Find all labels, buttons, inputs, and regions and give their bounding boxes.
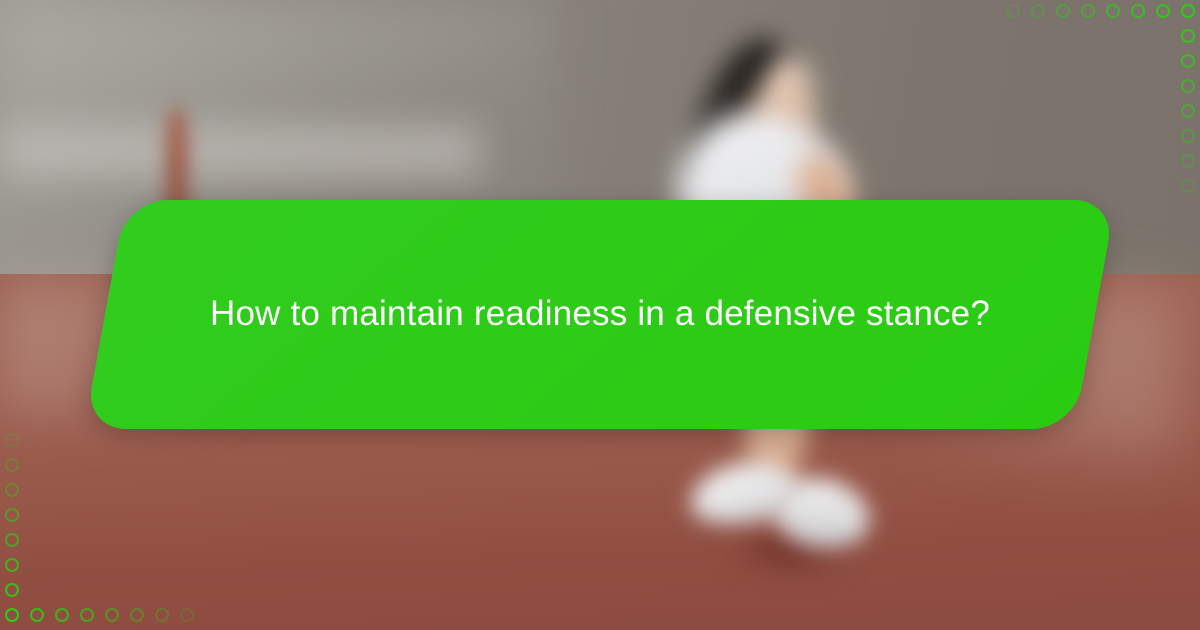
question-card-text-area: How to maintain readiness in a defensive… (105, 200, 1095, 429)
social-card-canvas: How to maintain readiness in a defensive… (0, 0, 1200, 630)
background-wall-stripe (0, 126, 480, 176)
question-card: How to maintain readiness in a defensive… (105, 200, 1095, 429)
question-text: How to maintain readiness in a defensive… (175, 287, 1025, 342)
